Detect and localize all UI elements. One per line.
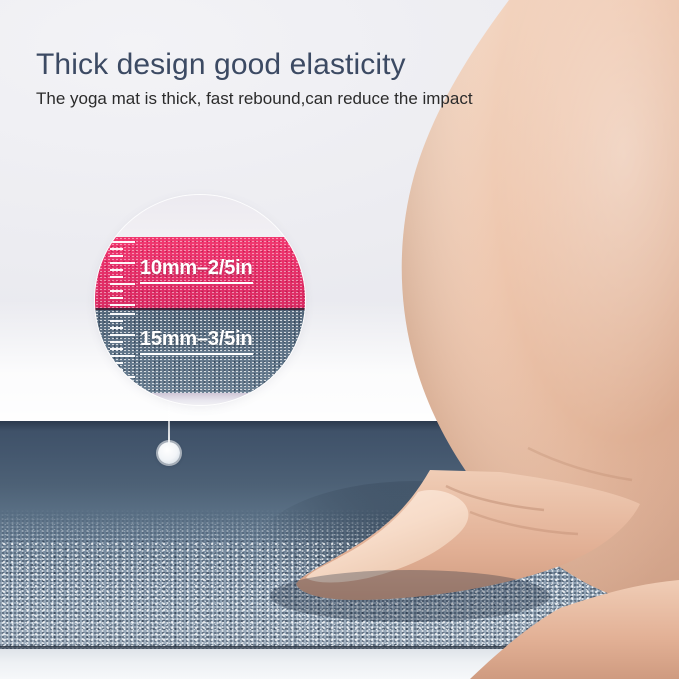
headings-block: Thick design good elasticity The yoga ma… bbox=[36, 48, 636, 109]
thickness-label-bottom-text: 15mm–3/5in bbox=[140, 328, 253, 350]
product-image-canvas: 10mm–2/5in 15mm–3/5in Thick design good … bbox=[0, 0, 679, 679]
ruler-tick bbox=[110, 269, 123, 271]
ruler-tick bbox=[110, 355, 135, 357]
ruler-tick bbox=[110, 283, 135, 285]
page-subtitle: The yoga mat is thick, fast rebound,can … bbox=[36, 89, 636, 109]
ruler-tick bbox=[110, 313, 135, 315]
page-title: Thick design good elasticity bbox=[36, 48, 636, 83]
ruler-tick bbox=[110, 362, 123, 364]
ruler-tick bbox=[110, 248, 123, 250]
ruler-tick bbox=[110, 348, 123, 350]
ruler-tick bbox=[110, 376, 135, 378]
ruler-tick bbox=[110, 290, 123, 292]
ruler-tick bbox=[110, 369, 123, 371]
thickness-label-bottom-underline bbox=[140, 353, 253, 355]
ruler-tick bbox=[110, 320, 123, 322]
thickness-label-bottom: 15mm–3/5in bbox=[140, 328, 253, 355]
ruler-tick bbox=[110, 383, 123, 385]
ruler-tick bbox=[110, 304, 135, 306]
thickness-detail-callout: 10mm–2/5in 15mm–3/5in bbox=[95, 195, 305, 405]
thickness-label-top: 10mm–2/5in bbox=[140, 257, 253, 284]
ruler-tick bbox=[110, 276, 123, 278]
callout-background-bottom bbox=[95, 393, 305, 405]
ruler-tick bbox=[110, 390, 123, 392]
ruler-tick bbox=[110, 341, 123, 343]
ruler-tick bbox=[110, 334, 135, 336]
ruler-tick bbox=[110, 262, 135, 264]
callout-background-top bbox=[95, 195, 305, 239]
finger-contact-shadow bbox=[270, 570, 550, 622]
ruler-tick bbox=[110, 297, 123, 299]
thickness-label-top-underline bbox=[140, 282, 253, 284]
ruler-tick bbox=[110, 255, 123, 257]
callout-pointer-dot bbox=[158, 442, 180, 464]
measurement-ruler bbox=[110, 241, 144, 391]
thickness-label-top-text: 10mm–2/5in bbox=[140, 257, 253, 279]
ruler-tick bbox=[110, 241, 135, 243]
ruler-tick bbox=[110, 327, 123, 329]
